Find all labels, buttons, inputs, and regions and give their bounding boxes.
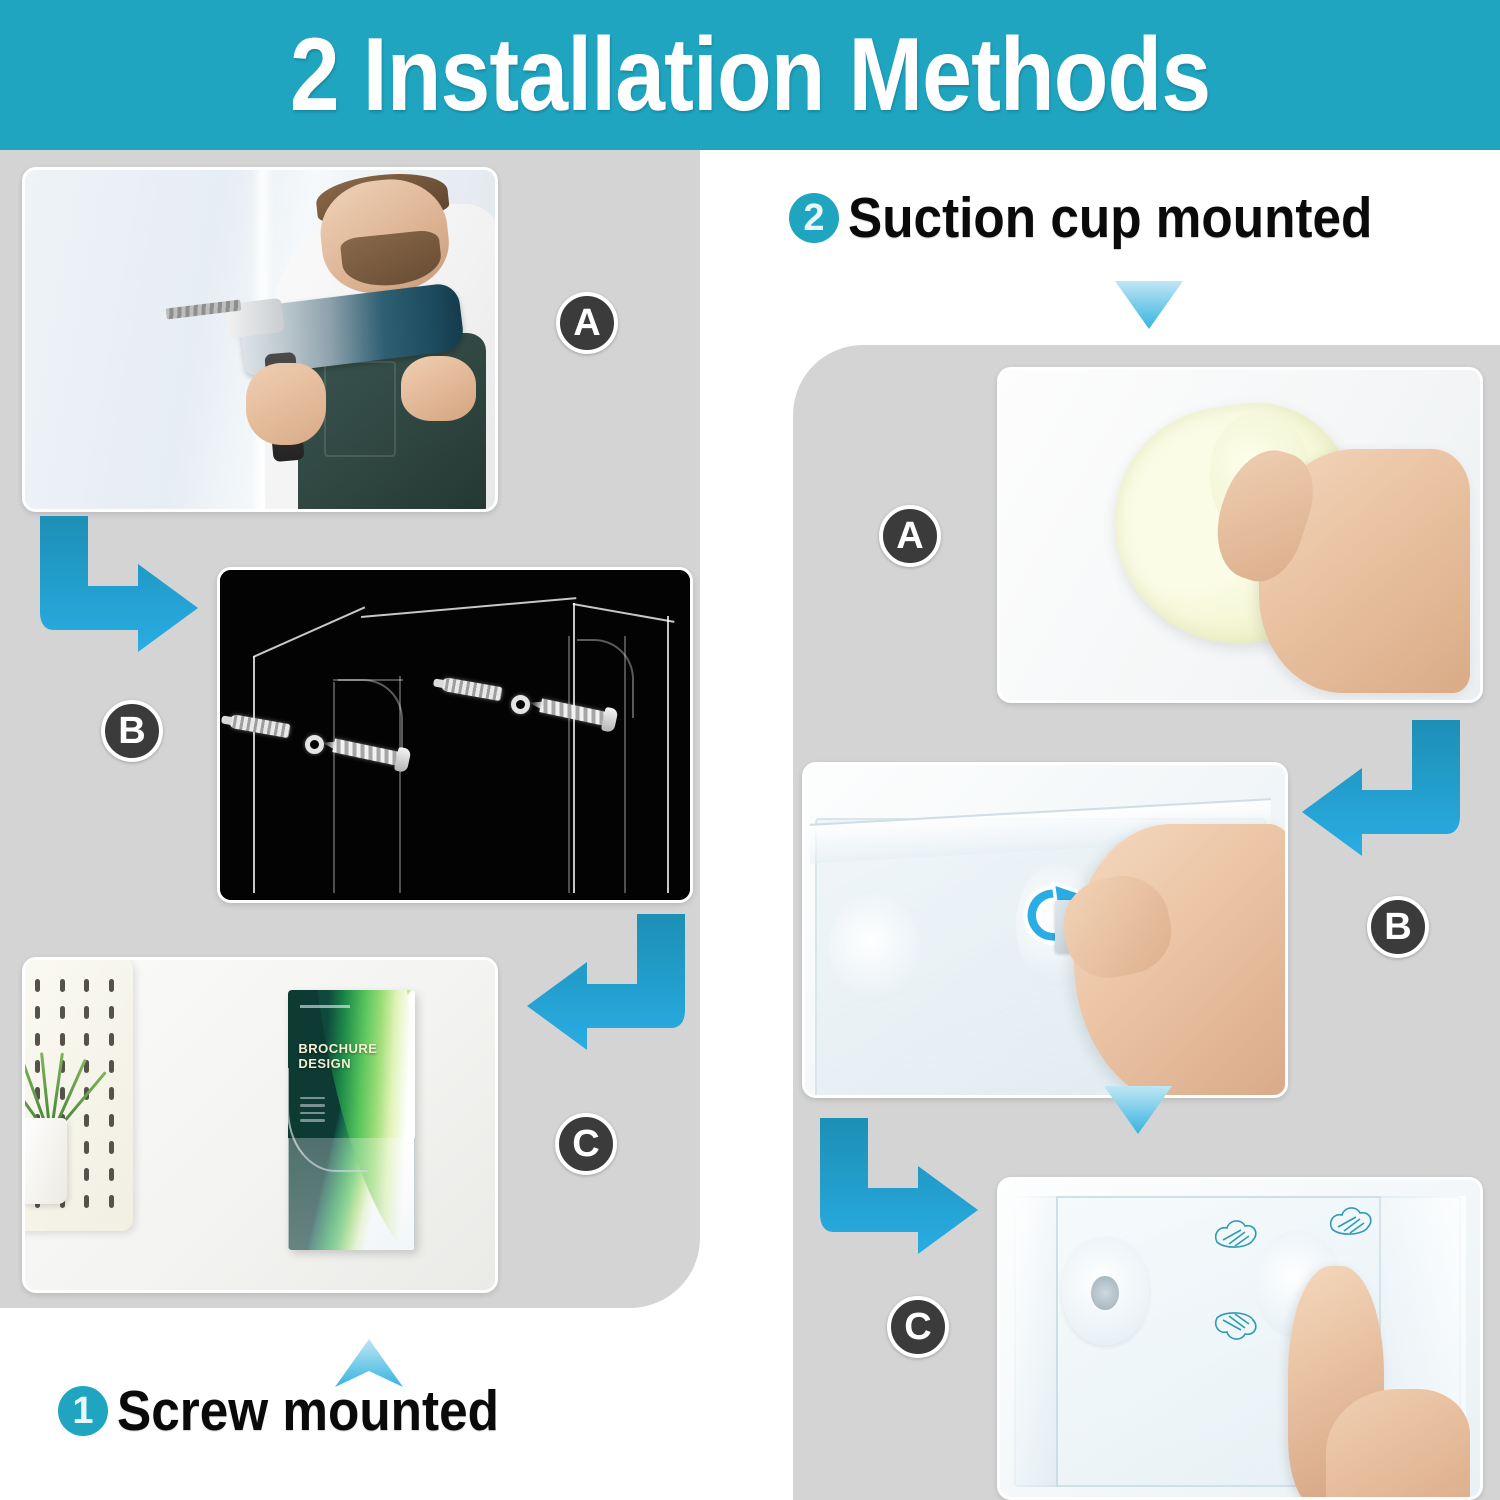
page-title: 2 Installation Methods [290,23,1210,127]
suction-puff-icon [1326,1199,1378,1243]
elbow-arrow-down-right-method-2 [800,1110,1000,1300]
step-badge-a-method-2: A [879,505,941,567]
step-badge-a-method-1: A [556,292,618,354]
infographic-page: 2 Installation Methods A [0,0,1500,1500]
method-2-label: Suction cup mounted [848,185,1372,251]
hand [1326,1389,1470,1500]
method-1-step-b-photo [217,567,693,903]
step-badge-b-method-2: B [1367,896,1429,958]
step-badge-c-method-2: C [887,1296,949,1358]
method-2-step-b-photo [802,762,1288,1098]
method-2-number: 2 [789,193,839,243]
method-1-step-a-photo [22,167,498,512]
brochure-title-line-1: BROCHURE [298,1041,377,1056]
brochure-holder: BROCHURE DESIGN [288,990,415,1251]
method-1-step-c-photo: BROCHURE DESIGN [22,957,498,1293]
elbow-arrow-down-right-method-1 [20,508,220,698]
method-1-label: Screw mounted [117,1378,499,1444]
chevron-down-icon-method-2-step-c [1102,1082,1174,1136]
suction-puff-icon [1211,1212,1263,1256]
method-2-step-c-photo [997,1177,1483,1500]
suction-puff-icon [1211,1304,1263,1348]
method-2-step-a-photo [997,367,1483,703]
header-banner: 2 Installation Methods [0,0,1500,150]
step-badge-c-method-1: C [555,1113,617,1175]
plant-pot [22,1118,67,1204]
method-1-caption: 1 Screw mounted [58,1378,541,1444]
elbow-arrow-down-left-method-2 [1290,712,1480,902]
elbow-arrow-down-left-method-1 [505,906,705,1096]
method-1-number: 1 [58,1386,108,1436]
step-badge-b-method-1: B [101,700,163,762]
chevron-down-icon-method-2 [1113,277,1185,331]
method-2-caption: 2 Suction cup mounted [789,185,1431,251]
